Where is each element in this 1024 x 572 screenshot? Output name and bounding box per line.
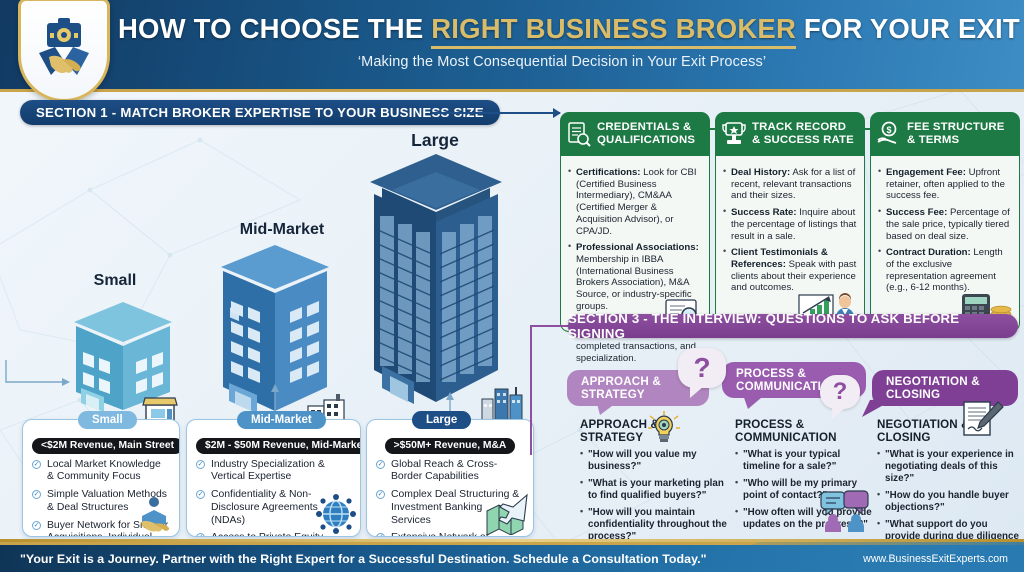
footer-website-url[interactable]: www.BusinessExitExperts.com: [863, 553, 1008, 565]
card-tag-large: >$50M+ Revenue, M&A: [385, 438, 516, 454]
fee-structure-card-title: FEE STRUCTURE & TERMS: [907, 121, 1005, 147]
lightbulb-gear-icon: [646, 410, 682, 444]
svg-text:$: $: [886, 125, 891, 135]
footer-tagline: "Your Exit is a Journey. Partner with th…: [20, 552, 707, 566]
list-item: "How do you handle buyer objections?": [877, 490, 1023, 514]
business-size-card-small[interactable]: <$2M Revenue, Main Street ✓Local Market …: [22, 419, 180, 537]
money-hand-icon: $: [877, 121, 901, 147]
credentials-card-title: CREDENTIALS & QUALIFICATIONS: [597, 121, 695, 147]
title-part-1: HOW TO CHOOSE THE: [118, 13, 431, 44]
section1-connector-line: [432, 112, 560, 114]
trophy-icon: [722, 121, 746, 147]
size-chip-mid: Mid-Market: [237, 411, 326, 429]
list-item: ✓Global Reach & Cross-Border Capabilitie…: [376, 459, 524, 485]
globe-network-icon: [316, 494, 356, 534]
infographic-page: HOW TO CHOOSE THE RIGHT BUSINESS BROKER …: [0, 0, 1024, 572]
card-tag-small: <$2M Revenue, Main Street: [32, 438, 180, 454]
list-item: Contract Duration: Length of the exclusi…: [878, 247, 1012, 294]
check-circle-icon: ✓: [376, 460, 385, 469]
banner-tail-2-icon: [742, 392, 772, 410]
track-record-card-body: Deal History: Ask for a list of recent, …: [715, 156, 865, 332]
building-label-mid: Mid-Market: [222, 221, 342, 239]
briefcase-handshake-icon: [18, 0, 110, 102]
track-record-card[interactable]: TRACK RECORD & SUCCESS RATE Deal History…: [715, 112, 865, 332]
building-label-large: Large: [385, 130, 485, 151]
page-subtitle: ‘Making the Most Consequential Decision …: [118, 54, 1006, 70]
title-part-2: FOR YOUR EXIT: [796, 13, 1020, 44]
check-circle-icon: ✓: [196, 490, 205, 499]
check-circle-icon: ✓: [376, 490, 385, 499]
page-header: HOW TO CHOOSE THE RIGHT BUSINESS BROKER …: [0, 0, 1024, 92]
fee-structure-card-header: $ FEE STRUCTURE & TERMS: [870, 112, 1020, 156]
map-airplane-icon: [483, 493, 531, 535]
document-magnifier-icon: [567, 121, 591, 147]
fee-structure-card-body: Engagement Fee: Upfront retainer, often …: [870, 156, 1020, 332]
check-circle-icon: ✓: [32, 490, 41, 499]
building-label-small: Small: [70, 272, 160, 290]
list-item: "What is your typical timeline for a sal…: [735, 449, 875, 473]
question-block-title-process: PROCESS & COMMUNICATION: [735, 418, 875, 444]
credentials-card-header: CREDENTIALS & QUALIFICATIONS: [560, 112, 710, 156]
list-item: ✓Local Market Knowledge & Community Focu…: [32, 459, 170, 485]
section3-connector-vertical: [530, 325, 532, 455]
business-size-card-large[interactable]: >$50M+ Revenue, M&A ✓Global Reach & Cros…: [366, 419, 534, 537]
track-record-card-title: TRACK RECORD & SUCCESS RATE: [752, 121, 854, 147]
question-bubble-small: ?: [820, 375, 860, 409]
handshake-icon: [133, 494, 175, 534]
list-item: Client Testimonials & References: Speak …: [723, 247, 857, 294]
section3-connector-line: [530, 325, 570, 327]
check-circle-icon: ✓: [32, 460, 41, 469]
contract-pen-icon: [962, 400, 1004, 440]
track-record-card-header: TRACK RECORD & SUCCESS RATE: [715, 112, 865, 156]
page-title: HOW TO CHOOSE THE RIGHT BUSINESS BROKER …: [118, 13, 1006, 45]
question-bubble-large: ?: [678, 348, 726, 388]
page-footer: "Your Exit is a Journey. Partner with th…: [0, 542, 1024, 572]
list-item: ✓Industry Specialization & Vertical Expe…: [196, 459, 351, 485]
size-chip-large: Large: [412, 411, 471, 429]
section3-pill: SECTION 3 - THE INTERVIEW: QUESTIONS TO …: [568, 314, 1018, 338]
section1-pill: SECTION 1 - MATCH BROKER EXPERTISE TO YO…: [20, 100, 500, 125]
check-circle-icon: ✓: [196, 460, 205, 469]
list-item: "How will you maintain confidentiality t…: [580, 507, 730, 543]
title-highlight: RIGHT BUSINESS BROKER: [431, 13, 796, 49]
list-item: Success Rate: Inquire about the percenta…: [723, 207, 857, 242]
credentials-card[interactable]: CREDENTIALS & QUALIFICATIONS Certificati…: [560, 112, 710, 332]
chat-people-icon: [820, 490, 872, 532]
list-item: Engagement Fee: Upfront retainer, often …: [878, 167, 1012, 202]
credentials-card-body: Certifications: Look for CBI (Certified …: [560, 156, 710, 332]
business-size-card-mid[interactable]: $2M - $50M Revenue, Mid-Market ✓Industry…: [186, 419, 361, 537]
fee-structure-card[interactable]: $ FEE STRUCTURE & TERMS Engagement Fee: …: [870, 112, 1020, 332]
check-circle-icon: ✓: [376, 533, 385, 537]
banner-tail-3-icon: [862, 398, 896, 418]
check-circle-icon: ✓: [32, 521, 41, 530]
list-item: Certifications: Look for CBI (Certified …: [568, 167, 702, 237]
list-item: "What is your marketing plan to find qua…: [580, 478, 730, 502]
list-item: Success Fee: Percentage of the sale pric…: [878, 207, 1012, 242]
card-tag-mid: $2M - $50M Revenue, Mid-Market: [196, 438, 361, 454]
banner-tail-1-icon: [596, 400, 624, 416]
check-circle-icon: ✓: [196, 533, 205, 537]
list-item: Deal History: Ask for a list of recent, …: [723, 167, 857, 202]
list-item: "What is your experience in negotiating …: [877, 449, 1023, 485]
size-chip-small: Small: [78, 411, 137, 429]
list-item: "How will you value my business?": [580, 449, 730, 473]
